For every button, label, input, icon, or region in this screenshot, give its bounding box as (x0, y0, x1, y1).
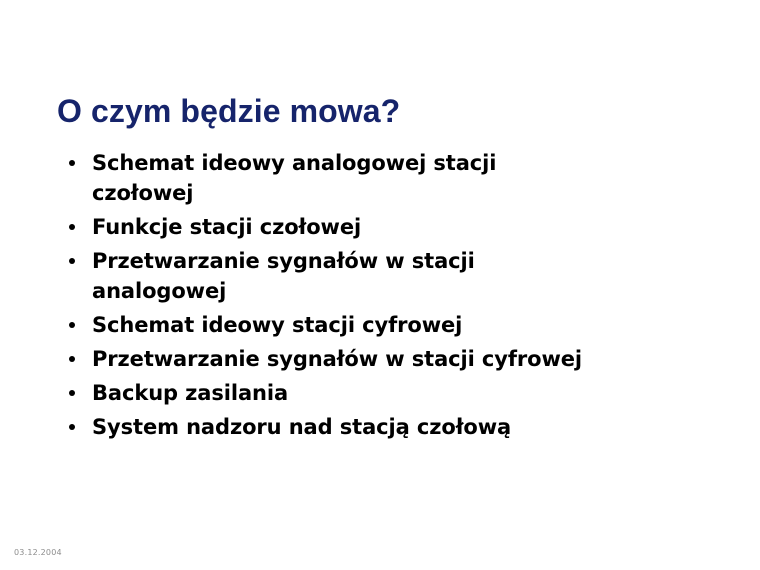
list-item: Backup zasilania (58, 378, 718, 408)
list-item: Przetwarzanie sygnałów w stacji analogow… (58, 246, 718, 306)
list-item-label: Funkcje stacji czołowej (92, 212, 718, 242)
bullet-point-icon (69, 224, 75, 230)
bullet-point-icon (69, 258, 75, 264)
list-item-label: Przetwarzanie sygnałów w stacji analogow… (92, 246, 572, 306)
list-item-label: System nadzoru nad stacją czołową (92, 412, 718, 442)
page-title: O czym będzie mowa? (57, 93, 400, 130)
bullet-point-icon (69, 322, 75, 328)
presentation-slide: O czym będzie mowa? Schemat ideowy analo… (0, 0, 760, 570)
list-item: System nadzoru nad stacją czołową (58, 412, 718, 442)
bullet-point-icon (69, 424, 75, 430)
list-item: Funkcje stacji czołowej (58, 212, 718, 242)
bullet-point-icon (69, 356, 75, 362)
list-item: Schemat ideowy stacji cyfrowej (58, 310, 718, 340)
list-item-label: Schemat ideowy stacji cyfrowej (92, 310, 718, 340)
agenda-bullet-list: Schemat ideowy analogowej stacji czołowe… (58, 148, 718, 446)
bullet-point-icon (69, 390, 75, 396)
list-item-label: Backup zasilania (92, 378, 718, 408)
list-item-label: Przetwarzanie sygnałów w stacji cyfrowej (92, 344, 718, 374)
bullet-point-icon (69, 160, 75, 166)
list-item: Przetwarzanie sygnałów w stacji cyfrowej (58, 344, 718, 374)
slide-date: 03.12.2004 (14, 548, 62, 557)
list-item-label: Schemat ideowy analogowej stacji czołowe… (92, 148, 592, 208)
list-item: Schemat ideowy analogowej stacji czołowe… (58, 148, 718, 208)
